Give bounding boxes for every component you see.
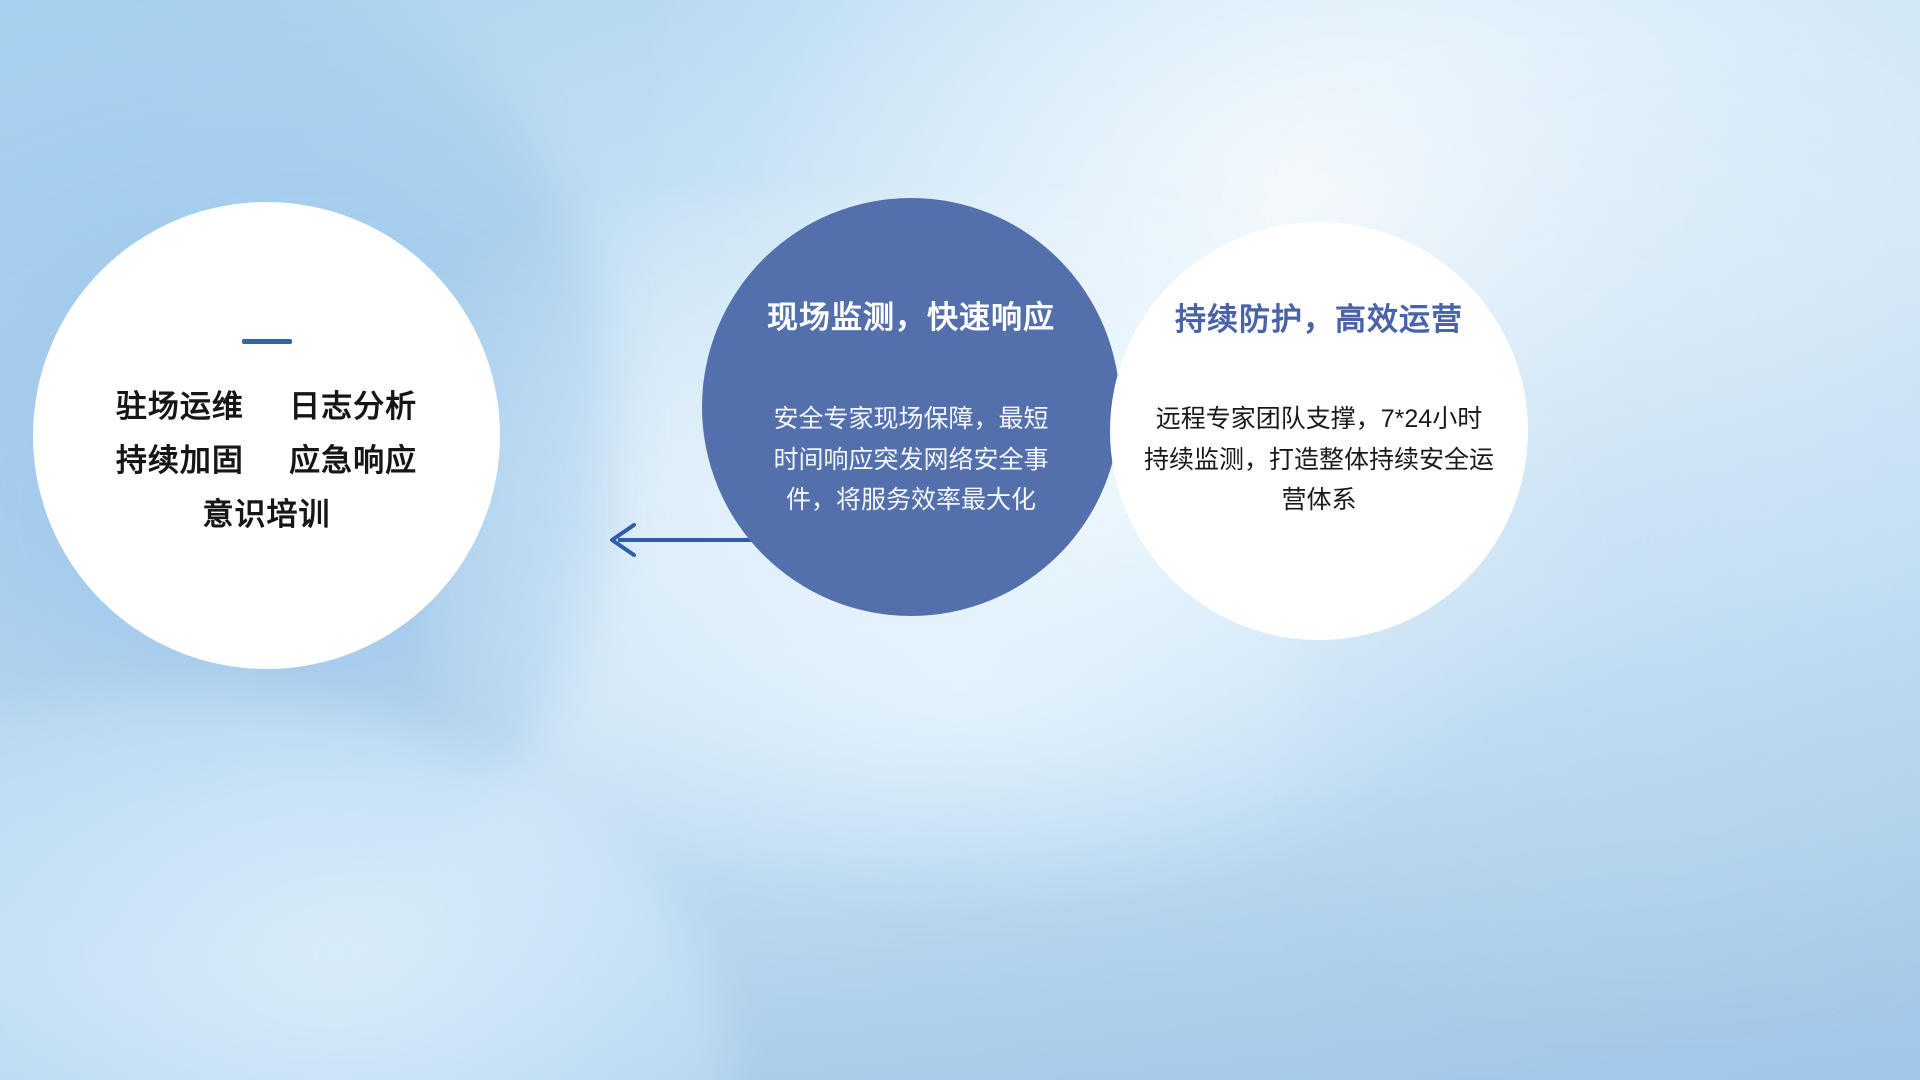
keyword-label: 日志分析 <box>289 389 417 424</box>
continuous-protection-circle[interactable]: 持续防护，高效运营 远程专家团队支撑，7*24小时持续监测，打造整体持续安全运营… <box>1110 222 1528 640</box>
card-body: 安全专家现场保障，最短时间响应突发网络安全事件，将服务效率最大化 <box>766 399 1056 521</box>
onsite-monitoring-circle[interactable]: 现场监测，快速响应 安全专家现场保障，最短时间响应突发网络安全事件，将服务效率最… <box>702 198 1120 616</box>
slide-canvas: 驻场运维 日志分析 持续加固 应急响应 意识培训 现场监测，快速响应 安全专家现… <box>0 0 1920 1080</box>
keyword-list: 驻场运维 日志分析 持续加固 应急响应 意识培训 <box>116 390 417 532</box>
card-body: 远程专家团队支撑，7*24小时持续监测，打造整体持续安全运营体系 <box>1144 399 1494 521</box>
keyword-label: 意识培训 <box>203 497 331 532</box>
keyword-label: 持续加固 <box>116 443 244 478</box>
accent-dash-icon <box>242 339 292 344</box>
service-keywords-circle[interactable]: 驻场运维 日志分析 持续加固 应急响应 意识培训 <box>33 202 500 669</box>
keyword-label: 应急响应 <box>289 443 417 478</box>
list-item: 意识培训 <box>203 498 331 532</box>
card-title: 持续防护，高效运营 <box>1175 294 1463 339</box>
list-item: 持续加固 应急响应 <box>116 444 417 478</box>
card-title: 现场监测，快速响应 <box>767 292 1055 337</box>
keyword-label: 驻场运维 <box>116 389 244 424</box>
list-item: 驻场运维 日志分析 <box>116 390 417 424</box>
